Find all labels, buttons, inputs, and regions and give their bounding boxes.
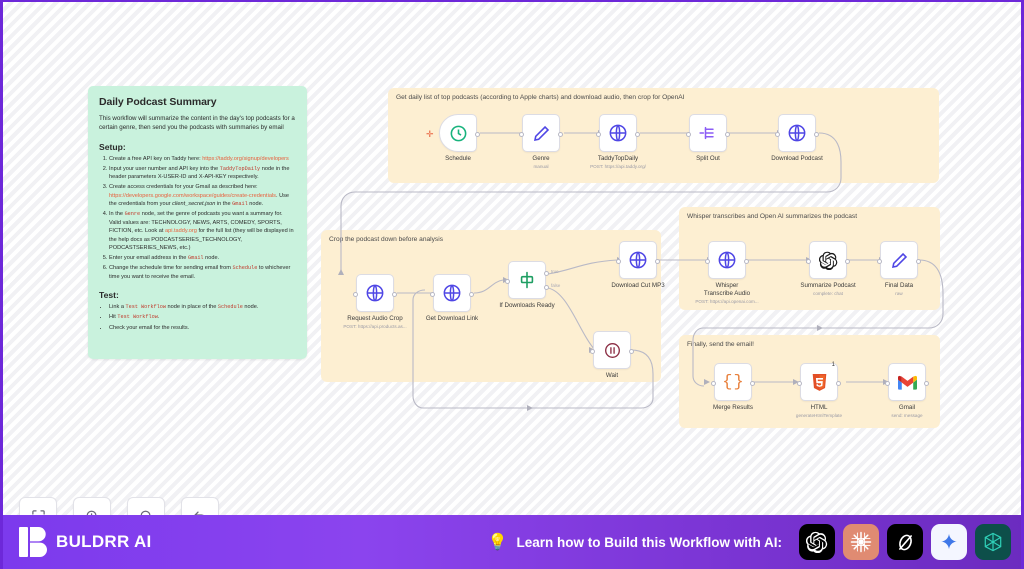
node-gmail-box[interactable]	[888, 363, 926, 401]
output-port[interactable]	[744, 259, 749, 264]
list-item: Input your user number and API key into …	[109, 165, 296, 182]
node-label: If Downloads Ready	[499, 302, 554, 310]
node-summarize-podcast[interactable]: Summarize Podcast complete: chat	[809, 241, 847, 279]
node-label: Schedule	[445, 155, 471, 163]
ai-tool-gemini-button[interactable]	[931, 524, 967, 560]
branch-label-true: true	[551, 269, 559, 274]
node-get-download-link-box[interactable]	[433, 274, 471, 312]
node-request-audio-crop-box[interactable]	[356, 274, 394, 312]
output-port-false[interactable]	[544, 285, 549, 290]
output-port[interactable]	[725, 132, 730, 137]
node-request-audio-crop[interactable]: Request Audio Crop POST: https://api.pro…	[356, 274, 394, 312]
node-subtitle: raw	[895, 291, 902, 296]
clock-icon	[449, 124, 468, 143]
globe-icon	[787, 123, 807, 143]
node-genre-box[interactable]	[522, 114, 560, 152]
input-port[interactable]	[519, 132, 524, 137]
cta-group: 💡 Learn how to Build this Workflow with …	[488, 524, 1011, 560]
list-item: Enter your email address in the Gmail no…	[109, 254, 296, 263]
input-port[interactable]	[705, 259, 710, 264]
node-schedule-box[interactable]	[439, 114, 477, 152]
branch-label-false: false	[551, 283, 560, 288]
list-item: Check your email for the results.	[109, 324, 296, 332]
sticky-note-test-list: Link a Test Workflow node in place of th…	[109, 303, 296, 332]
gmail-icon	[898, 375, 917, 390]
node-taddytopdaily[interactable]: TaddyTopDaily POST: https://api.taddy.or…	[599, 114, 637, 152]
node-download-cut-mp3[interactable]: Download Cut MP3	[619, 241, 657, 279]
node-schedule[interactable]: ✛ Schedule	[439, 114, 477, 152]
globe-icon	[628, 250, 648, 270]
braces-icon: { }	[722, 373, 743, 392]
node-get-download-link[interactable]: Get Download Link	[433, 274, 471, 312]
grok-icon	[895, 532, 916, 553]
node-merge-results[interactable]: { } Merge Results	[714, 363, 752, 401]
lightbulb-icon: 💡	[488, 532, 508, 552]
input-port[interactable]	[775, 132, 780, 137]
node-gmail[interactable]: Gmail send: message	[888, 363, 926, 401]
node-download-podcast[interactable]: Download Podcast	[778, 114, 816, 152]
node-if-downloads-ready-box[interactable]	[508, 261, 546, 299]
group-label-whisper: Whisper transcribes and Open AI summariz…	[687, 213, 857, 220]
input-port[interactable]	[797, 381, 802, 386]
list-item: Create access credentials for your Gmail…	[109, 183, 296, 209]
buldrr-logo-icon	[19, 527, 47, 557]
globe-icon	[365, 283, 385, 303]
input-port[interactable]	[686, 132, 691, 137]
node-wait-box[interactable]	[593, 331, 631, 369]
pencil-icon	[532, 124, 551, 143]
node-run-count-badge: 1	[832, 362, 835, 368]
code-gmail-2: Gmail	[188, 255, 204, 261]
node-label: Request Audio Crop	[347, 315, 402, 323]
node-whisper-transcribe-audio[interactable]: Whisper Transcribe Audio POST: https://a…	[708, 241, 746, 279]
node-merge-results-box[interactable]: { }	[714, 363, 752, 401]
globe-icon	[442, 283, 462, 303]
node-summarize-podcast-box[interactable]	[809, 241, 847, 279]
output-port[interactable]	[814, 132, 819, 137]
node-split-out-box[interactable]	[689, 114, 727, 152]
ai-tool-n8n-button[interactable]	[975, 524, 1011, 560]
sticky-note-setup-heading: Setup:	[99, 142, 296, 152]
node-html[interactable]: 1 HTML generateHtmlTemplate	[800, 363, 838, 401]
node-label: Get Download Link	[426, 315, 478, 323]
split-out-icon	[698, 123, 718, 143]
pencil-icon	[890, 251, 909, 270]
output-port[interactable]	[629, 349, 634, 354]
openai-icon	[806, 531, 828, 553]
code-schedule: Schedule	[232, 265, 257, 271]
link-api-taddy[interactable]: api.taddy.org	[165, 228, 197, 234]
node-html-box[interactable]: 1	[800, 363, 838, 401]
code-gmail: Gmail	[232, 201, 248, 207]
output-port-true[interactable]	[544, 271, 549, 276]
node-split-out[interactable]: Split Out	[689, 114, 727, 152]
link-taddy-signup[interactable]: https://taddy.org/signup/developers	[202, 156, 289, 162]
group-label-fetch: Get daily list of top podcasts (accordin…	[396, 94, 684, 101]
input-port[interactable]	[711, 381, 716, 386]
node-subtitle: send: message	[891, 413, 922, 418]
node-label: Gmail	[899, 404, 915, 412]
output-port[interactable]	[558, 132, 563, 137]
list-item: Hit Test Workflow.	[109, 313, 296, 322]
output-port[interactable]	[655, 259, 660, 264]
node-subtitle: POST: https://api.taddy.org/	[590, 164, 646, 169]
node-taddytopdaily-box[interactable]	[599, 114, 637, 152]
node-label: Merge Results	[713, 404, 753, 412]
input-port[interactable]	[505, 279, 510, 284]
promo-bottom-bar: BULDRR AI 💡 Learn how to Build this Work…	[3, 515, 1024, 569]
node-label: TaddyTopDaily	[598, 155, 638, 163]
claude-burst-icon	[849, 530, 873, 554]
node-final-data[interactable]: Final Data raw	[880, 241, 918, 279]
ai-tool-claude-button[interactable]	[843, 524, 879, 560]
list-item: Link a Test Workflow node in place of th…	[109, 303, 296, 312]
node-subtitle: complete: chat	[813, 291, 843, 296]
output-port[interactable]	[475, 132, 480, 137]
node-download-cut-mp3-box[interactable]	[619, 241, 657, 279]
output-port[interactable]	[750, 381, 755, 386]
node-label: Summarize Podcast	[800, 282, 855, 290]
code-taddytopdaily: TaddyTopDaily	[220, 166, 260, 172]
node-label: Download Podcast	[771, 155, 823, 163]
workflow-editor-window: Get daily list of top podcasts (accordin…	[0, 0, 1024, 569]
openai-icon	[819, 251, 838, 270]
node-subtitle: generateHtmlTemplate	[796, 413, 842, 418]
brand-name: BULDRR AI	[56, 532, 152, 552]
node-if-downloads-ready[interactable]: true false If Downloads Ready	[508, 261, 546, 299]
n8n-icon	[982, 531, 1004, 553]
input-port[interactable]	[430, 292, 435, 297]
brand-logo-group[interactable]: BULDRR AI	[19, 527, 152, 557]
output-port[interactable]	[916, 259, 921, 264]
output-port[interactable]	[469, 292, 474, 297]
sticky-note-intro: This workflow will summarize the content…	[99, 114, 296, 133]
globe-icon	[717, 250, 737, 270]
node-download-podcast-box[interactable]	[778, 114, 816, 152]
node-label: Final Data	[885, 282, 913, 290]
input-port[interactable]	[885, 381, 890, 386]
output-port[interactable]	[924, 381, 929, 386]
sticky-note-test-heading: Test:	[99, 290, 296, 300]
gemini-sparkle-icon	[939, 532, 959, 552]
ai-tool-openai-button[interactable]	[799, 524, 835, 560]
ai-tools-list	[799, 524, 1011, 560]
cta-text: Learn how to Build this Workflow with AI…	[517, 535, 783, 550]
node-subtitle: manual	[533, 164, 548, 169]
node-subtitle: POST: https://api.openai.com...	[695, 299, 758, 304]
sticky-note-setup-list: Create a free API key on Taddy here: htt…	[109, 155, 296, 281]
html5-icon	[811, 373, 828, 392]
node-final-data-box[interactable]	[880, 241, 918, 279]
list-item: In the Genre node, set the genre of podc…	[109, 210, 296, 252]
list-item: Create a free API key on Taddy here: htt…	[109, 155, 296, 163]
node-label: Genre	[532, 155, 549, 163]
node-subtitle: POST: https://api.products.as...	[343, 324, 406, 329]
node-label: Split Out	[696, 155, 720, 163]
input-port[interactable]	[590, 349, 595, 354]
sticky-note-title: Daily Podcast Summary	[99, 96, 296, 109]
globe-icon	[608, 123, 628, 143]
code-schedule-2: Schedule	[218, 304, 243, 310]
node-genre[interactable]: Genre manual	[522, 114, 560, 152]
output-port[interactable]	[392, 292, 397, 297]
input-port[interactable]	[877, 259, 882, 264]
input-port[interactable]	[806, 259, 811, 264]
node-label: Wait	[606, 372, 618, 380]
group-label-email: Finally, send the email!	[687, 341, 754, 348]
pause-icon	[603, 341, 622, 360]
node-label: HTML	[811, 404, 828, 412]
code-genre: Genre	[125, 211, 141, 217]
add-node-plus-icon[interactable]: ✛	[426, 130, 434, 139]
node-whisper-transcribe-audio-box[interactable]	[708, 241, 746, 279]
input-port[interactable]	[353, 292, 358, 297]
output-port[interactable]	[635, 132, 640, 137]
output-port[interactable]	[836, 381, 841, 386]
output-port[interactable]	[845, 259, 850, 264]
group-label-crop: Crop the podcast down before analysis	[329, 236, 443, 243]
node-label: Download Cut MP3	[611, 282, 664, 290]
input-port[interactable]	[596, 132, 601, 137]
input-port[interactable]	[616, 259, 621, 264]
link-google-credentials[interactable]: https://developers.google.com/workspace/…	[109, 193, 276, 199]
ai-tool-grok-button[interactable]	[887, 524, 923, 560]
workflow-canvas[interactable]: Get daily list of top podcasts (accordin…	[3, 2, 1024, 517]
if-branch-icon	[517, 270, 537, 290]
list-item: Change the schedule time for sending ema…	[109, 264, 296, 281]
node-wait[interactable]: Wait	[593, 331, 631, 369]
code-hit-test-workflow: Test Workflow	[117, 314, 157, 320]
code-test-workflow: Test Workflow	[125, 304, 165, 310]
sticky-note-daily-podcast-summary[interactable]: Daily Podcast Summary This workflow will…	[88, 86, 307, 359]
node-label: Whisper Transcribe Audio	[701, 282, 753, 298]
